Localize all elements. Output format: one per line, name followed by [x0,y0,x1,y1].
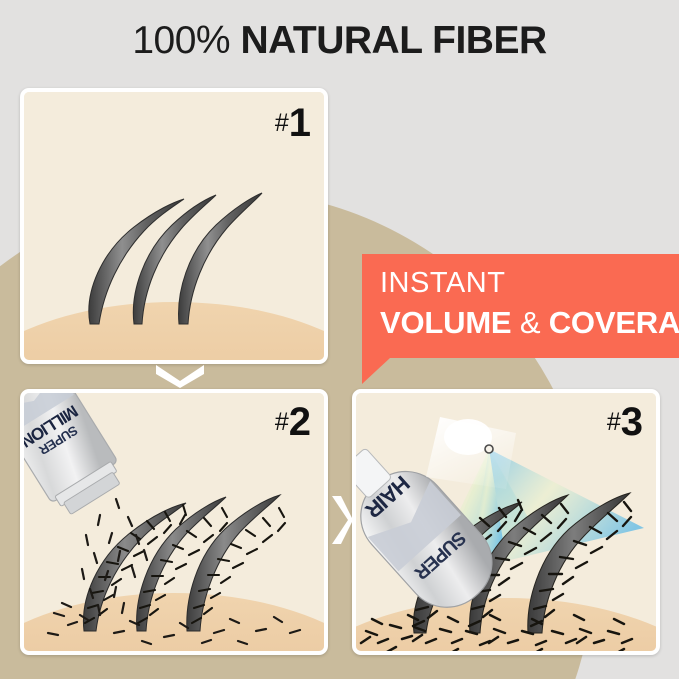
callout-line-1: INSTANT [380,269,679,298]
hash-glyph-1: # [275,109,289,137]
step-panel-2[interactable]: SUPER MILLION #2 [20,389,328,655]
callout-ampersand: & [520,305,540,340]
hash-glyph-2: # [275,408,289,436]
number-glyph-3: 3 [621,400,642,444]
step-panel-3[interactable]: SUPER HAIR #3 [352,389,660,655]
callout-volume: VOLUME [380,305,511,340]
page-title: 100% NATURAL FIBER [0,20,679,62]
callout-coverage: COVERAGE [549,305,679,340]
arrow-right-icon [329,492,353,548]
title-main: NATURAL FIBER [240,19,546,62]
step-number-1: #1 [275,103,310,143]
arrow-down-icon [152,362,208,388]
step-number-3: #3 [607,402,642,442]
step-number-2: #2 [275,402,310,442]
number-glyph-1: 1 [289,101,310,145]
number-glyph-2: 2 [289,400,310,444]
hash-glyph-3: # [607,408,621,436]
callout-banner: INSTANT VOLUME & COVERAGE [362,254,679,358]
spray-orifice [485,445,493,453]
callout-line-2: VOLUME & COVERAGE [380,307,679,338]
step-panel-1[interactable]: #1 [20,88,328,364]
title-prefix: 100% [132,19,230,62]
callout-banner-text: INSTANT VOLUME & COVERAGE [380,269,679,338]
infographic-canvas: 100% NATURAL FIBER [0,0,679,679]
